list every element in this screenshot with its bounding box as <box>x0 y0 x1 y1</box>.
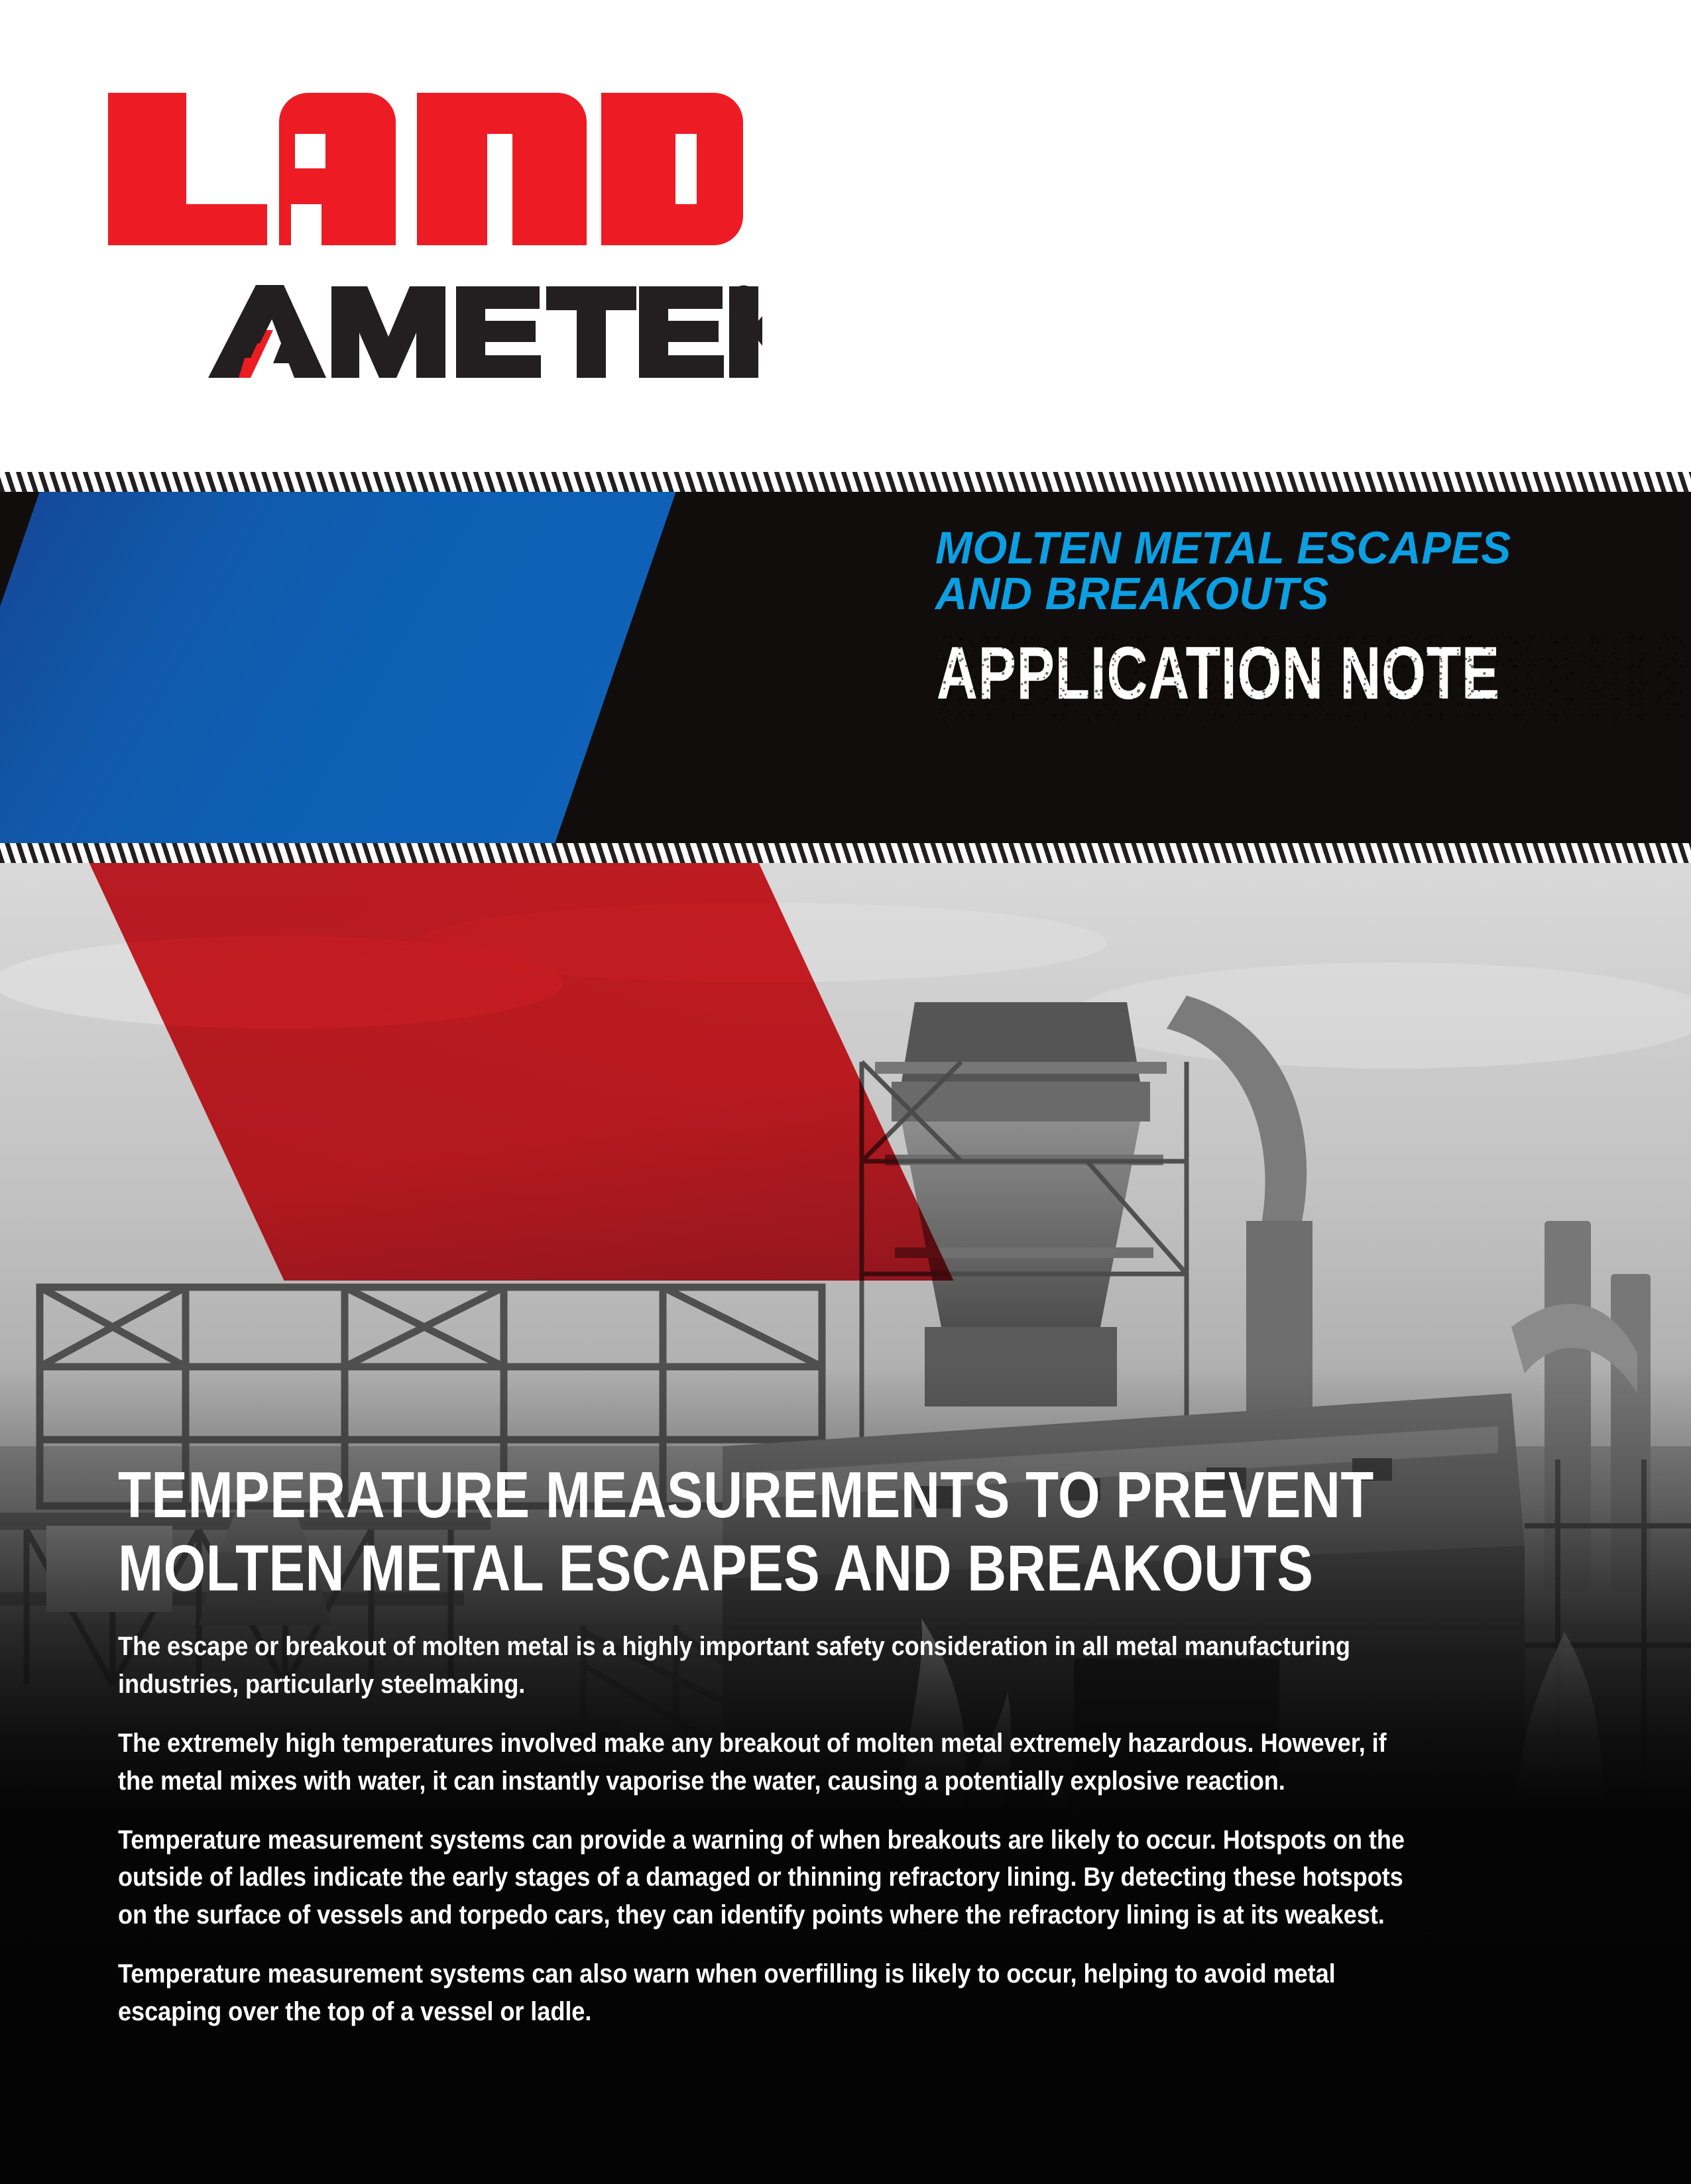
hatch-divider-middle <box>0 843 1691 863</box>
body-paragraph: The escape or breakout of molten metal i… <box>118 1628 1414 1703</box>
application-note-page: R MOLTEN METAL ESCAPES AND BREAKOUTS APP… <box>0 0 1691 2184</box>
logo-header: R <box>0 0 1691 472</box>
banner-text-group: MOLTEN METAL ESCAPES AND BREAKOUTS APPLI… <box>929 492 1691 843</box>
land-logo <box>108 93 877 245</box>
document-banner: MOLTEN METAL ESCAPES AND BREAKOUTS APPLI… <box>0 492 1691 843</box>
ametek-logo: R <box>199 285 762 378</box>
eyebrow-line-2: AND BREAKOUTS <box>935 571 1662 616</box>
blue-chevron-graphic <box>0 492 683 843</box>
page-headline: TEMPERATURE MEASUREMENTS TO PREVENT MOLT… <box>118 1458 1564 1605</box>
body-paragraph: Temperature measurement systems can prov… <box>118 1821 1414 1934</box>
document-type-label: APPLICATION NOTE <box>937 636 1633 711</box>
headline-line-1: TEMPERATURE MEASUREMENTS TO PREVENT <box>118 1458 1564 1531</box>
eyebrow-line-1: MOLTEN METAL ESCAPES <box>935 525 1662 571</box>
headline-line-2: MOLTEN METAL ESCAPES AND BREAKOUTS <box>118 1531 1564 1604</box>
body-paragraph: Temperature measurement systems can also… <box>118 1955 1414 2031</box>
article-copy: TEMPERATURE MEASUREMENTS TO PREVENT MOLT… <box>118 1458 1576 2030</box>
hatch-divider-top <box>0 472 1691 492</box>
hero-photo: TEMPERATURE MEASUREMENTS TO PREVENT MOLT… <box>0 863 1691 2184</box>
body-paragraph: The extremely high temperatures involved… <box>118 1725 1414 1800</box>
svg-text:R: R <box>739 290 749 305</box>
banner-eyebrow-title: MOLTEN METAL ESCAPES AND BREAKOUTS <box>935 525 1662 616</box>
